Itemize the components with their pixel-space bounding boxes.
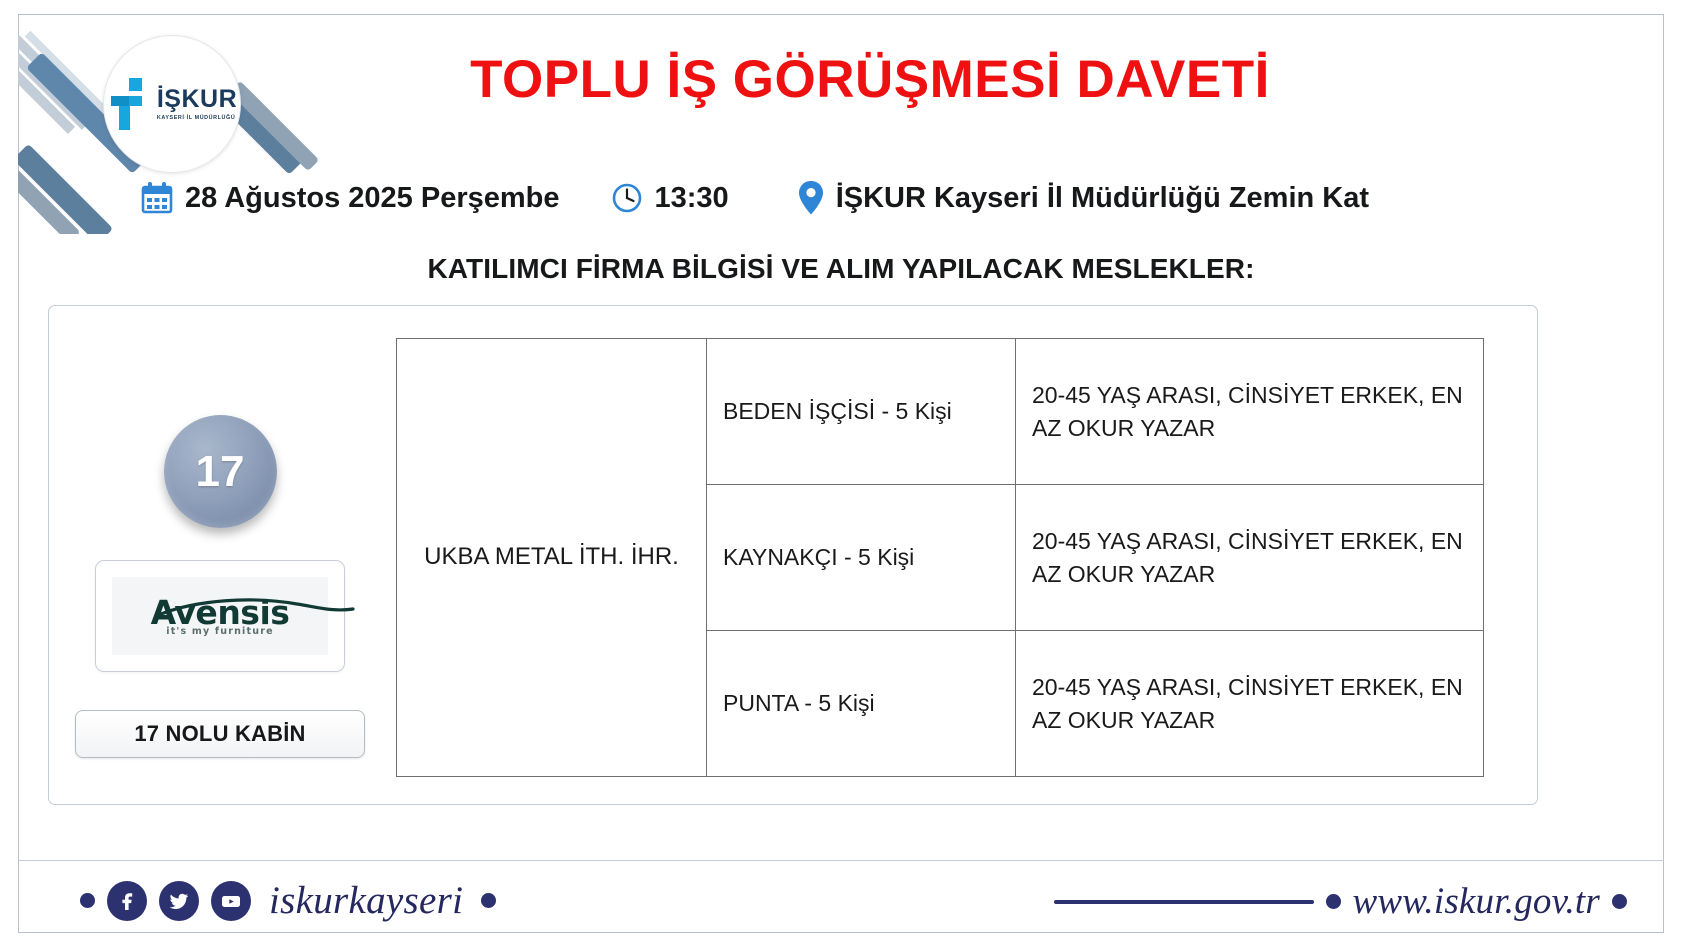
location-pin-icon (797, 180, 825, 216)
footer-divider (18, 860, 1664, 861)
footer-rule (1054, 900, 1314, 904)
event-location-text: İŞKUR Kayseri İl Müdürlüğü Zemin Kat (836, 182, 1369, 215)
position-cell: BEDEN İŞÇİSİ - 5 Kişi (707, 339, 1016, 485)
footer-website-group: www.iskur.gov.tr (1054, 880, 1628, 923)
requirements-cell: 20-45 YAŞ ARASI, CİNSİYET ERKEK, EN AZ O… (1016, 631, 1484, 777)
requirements-cell: 20-45 YAŞ ARASI, CİNSİYET ERKEK, EN AZ O… (1016, 339, 1484, 485)
website-text[interactable]: www.iskur.gov.tr (1353, 880, 1601, 923)
company-logo-box: Avensis it's my furniture (95, 560, 345, 672)
cabin-label-text: 17 NOLU KABİN (134, 721, 305, 747)
iskur-logo-subtitle: KAYSERİ İL MÜDÜRLÜĞÜ (157, 115, 236, 121)
event-location: İŞKUR Kayseri İl Müdürlüğü Zemin Kat (797, 180, 1369, 216)
footer-social-group: iskurkayseri (80, 878, 496, 923)
company-name-cell: UKBA METAL İTH. İHR. (397, 339, 707, 777)
bullet-dot-icon (80, 893, 95, 908)
iskur-logo-word: İŞKUR (157, 87, 237, 112)
twitter-icon[interactable] (159, 881, 199, 921)
iskur-logo: İŞKUR KAYSERİ İL MÜDÜRLÜĞÜ (103, 35, 241, 173)
booth-number-badge: 17 (164, 415, 277, 528)
avensis-wordmark: Avensis (151, 596, 290, 629)
facebook-icon[interactable] (107, 881, 147, 921)
page-title: TOPLU İŞ GÖRÜŞMESİ DAVETİ (380, 52, 1360, 108)
event-date: 28 Ağustos 2025 Perşembe (140, 181, 560, 215)
position-cell: PUNTA - 5 Kişi (707, 631, 1016, 777)
booth-number: 17 (196, 450, 245, 494)
iskur-logo-icon (107, 76, 153, 132)
event-info-row: 28 Ağustos 2025 Perşembe 13:30 İŞKUR Kay… (140, 180, 1540, 216)
event-time: 13:30 (610, 181, 729, 215)
bullet-dot-icon (481, 893, 496, 908)
avensis-tagline: it's my furniture (151, 626, 290, 637)
social-handle: iskurkayseri (269, 878, 463, 923)
avensis-logo: Avensis it's my furniture (151, 596, 290, 637)
event-date-text: 28 Ağustos 2025 Perşembe (185, 182, 560, 215)
youtube-icon[interactable] (211, 881, 251, 921)
footer: iskurkayseri www.iskur.gov.tr (0, 862, 1682, 947)
section-heading: KATILIMCI FİRMA BİLGİSİ VE ALIM YAPILACA… (0, 253, 1682, 285)
poster-root: İŞKUR KAYSERİ İL MÜDÜRLÜĞÜ TOPLU İŞ GÖRÜ… (0, 0, 1682, 947)
table-row: UKBA METAL İTH. İHR. BEDEN İŞÇİSİ - 5 Ki… (397, 339, 1484, 485)
position-cell: KAYNAKÇI - 5 Kişi (707, 485, 1016, 631)
bullet-dot-icon (1326, 894, 1341, 909)
event-time-text: 13:30 (655, 182, 729, 215)
clock-icon (610, 181, 644, 215)
booth-panel: 17 Avensis it's my furniture 17 NOLU KAB… (70, 415, 370, 758)
bullet-dot-icon (1612, 894, 1627, 909)
requirements-cell: 20-45 YAŞ ARASI, CİNSİYET ERKEK, EN AZ O… (1016, 485, 1484, 631)
calendar-icon (140, 181, 174, 215)
cabin-label-button[interactable]: 17 NOLU KABİN (75, 710, 365, 758)
jobs-table: UKBA METAL İTH. İHR. BEDEN İŞÇİSİ - 5 Ki… (396, 338, 1484, 777)
